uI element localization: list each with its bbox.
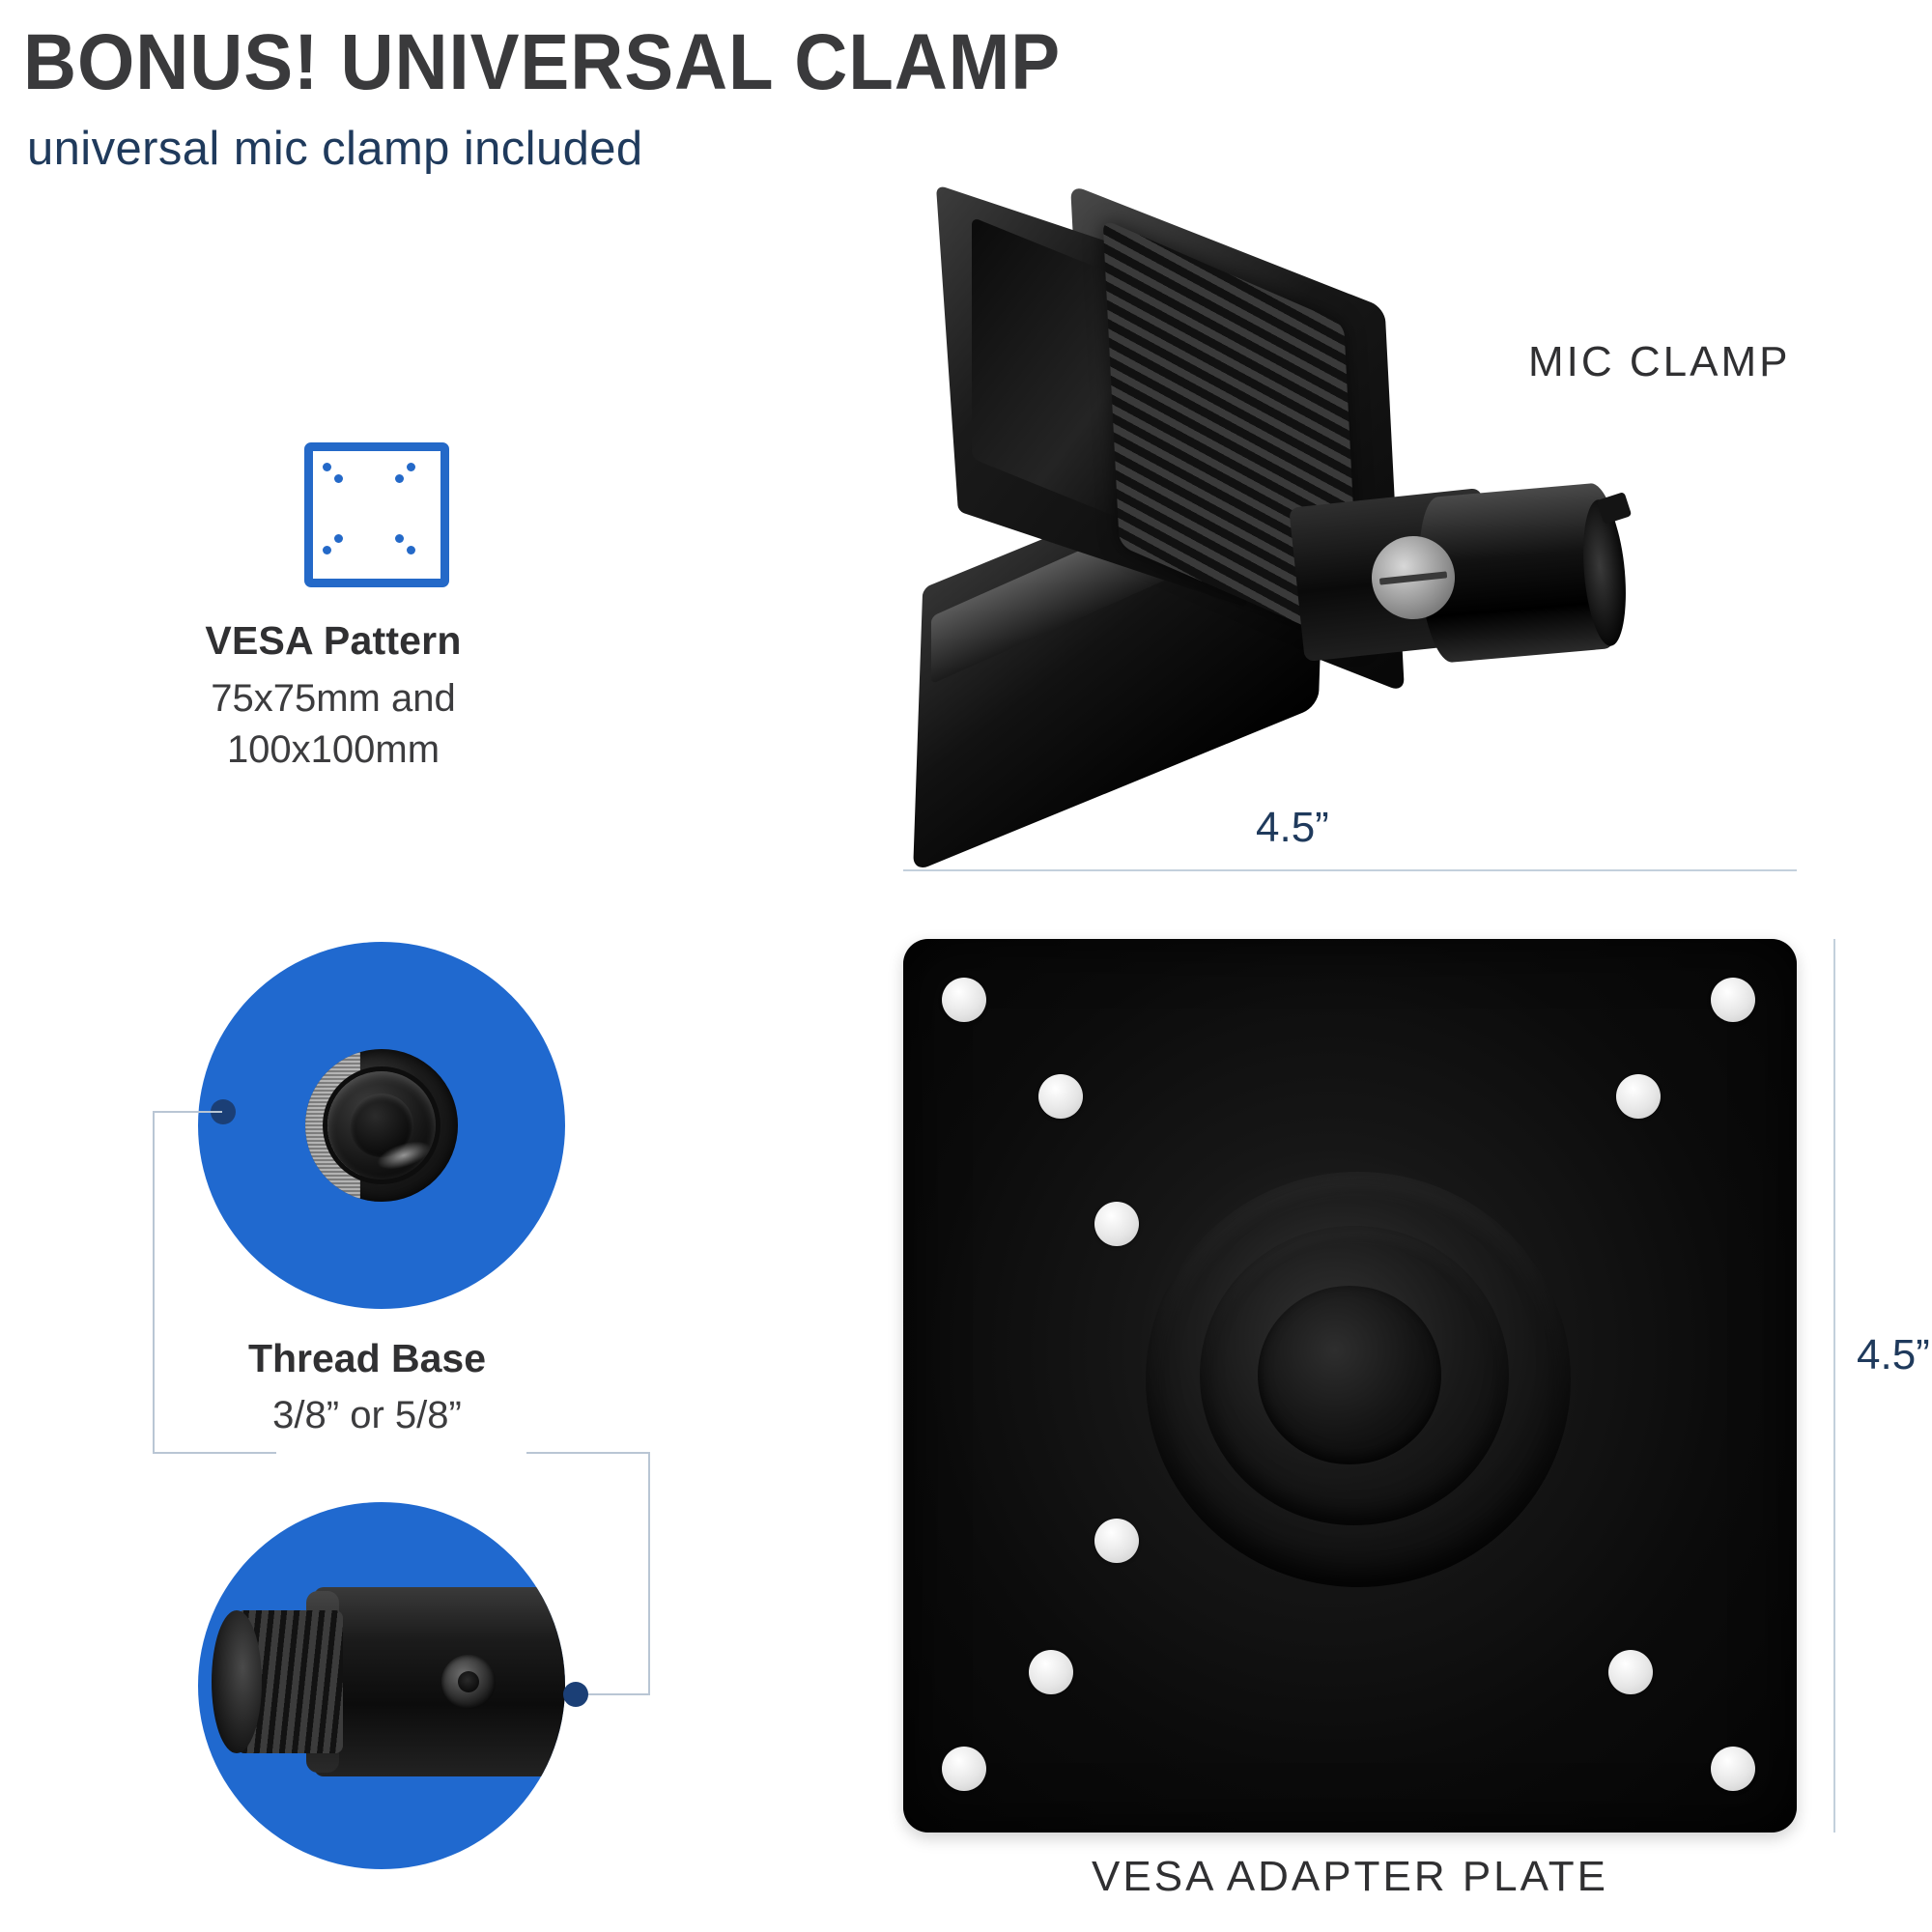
thread-base-detail: 3/8” or 5/8” <box>116 1394 618 1437</box>
vesa-icon-dot-outer-bl <box>323 546 331 554</box>
mic-clamp-label: MIC CLAMP <box>1528 338 1790 386</box>
vesa-pattern-detail-line2: 100x100mm <box>227 728 440 771</box>
callout-line-bottom-left <box>153 1452 276 1454</box>
vesa-pattern-detail: 75x75mm and 100x100mm <box>87 673 580 776</box>
plate-center-boss-inner <box>1258 1286 1441 1464</box>
page-title: BONUS! UNIVERSAL CLAMP <box>23 23 1061 102</box>
plate-hole-mid-left-lower <box>1094 1519 1139 1563</box>
vesa-adapter-plate-label: VESA ADAPTER PLATE <box>903 1853 1797 1901</box>
vesa-hole-pattern-icon <box>304 442 449 587</box>
vesa-pattern-label: VESA Pattern <box>87 618 580 664</box>
vesa-pattern-detail-line1: 75x75mm and <box>211 677 455 720</box>
plate-hole-inner-tr <box>1616 1074 1661 1119</box>
plate-height-dimension-label: 4.5” <box>1857 1331 1930 1379</box>
plate-hole-corner-br <box>1711 1747 1755 1791</box>
page-subtitle: universal mic clamp included <box>27 126 643 173</box>
plate-hole-inner-bl <box>1029 1650 1073 1694</box>
mic-clamp-photo <box>918 217 1623 797</box>
callout-line-right-vertical <box>648 1452 650 1695</box>
vesa-icon-dot-inner-tl <box>334 474 343 483</box>
vesa-icon-dot-outer-tl <box>323 463 331 471</box>
vesa-icon-dot-inner-tr <box>395 474 404 483</box>
vesa-icon-dot-outer-br <box>407 546 415 554</box>
callout-dot-bottom <box>563 1682 588 1707</box>
plate-hole-inner-tl <box>1038 1074 1083 1119</box>
vesa-icon-dot-inner-bl <box>334 534 343 543</box>
callout-line-bottom-horizontal <box>584 1693 650 1695</box>
thread-base-label: Thread Base <box>116 1336 618 1381</box>
plate-hole-corner-bl <box>942 1747 986 1791</box>
thread-adapter-end-cap <box>212 1610 262 1753</box>
callout-line-bottom-right <box>526 1452 650 1454</box>
plate-width-dimension-line <box>903 869 1797 871</box>
plate-width-dimension-label: 4.5” <box>1256 804 1329 852</box>
thread-base-side-view <box>198 1502 565 1869</box>
plate-hole-corner-tr <box>1711 978 1755 1022</box>
plate-hole-mid-left-upper <box>1094 1202 1139 1246</box>
thread-base-top-view <box>198 942 565 1309</box>
callout-line-top-horizontal <box>153 1111 222 1113</box>
thread-adapter-body <box>314 1587 565 1776</box>
plate-hole-corner-tl <box>942 978 986 1022</box>
thread-adapter-set-screw <box>441 1655 496 1709</box>
vesa-icon-dot-outer-tr <box>407 463 415 471</box>
infographic-canvas: BONUS! UNIVERSAL CLAMP universal mic cla… <box>0 0 1932 1932</box>
plate-hole-inner-br <box>1608 1650 1653 1694</box>
vesa-adapter-plate-photo <box>903 939 1797 1833</box>
vesa-icon-dot-inner-br <box>395 534 404 543</box>
plate-height-dimension-line <box>1833 939 1835 1833</box>
